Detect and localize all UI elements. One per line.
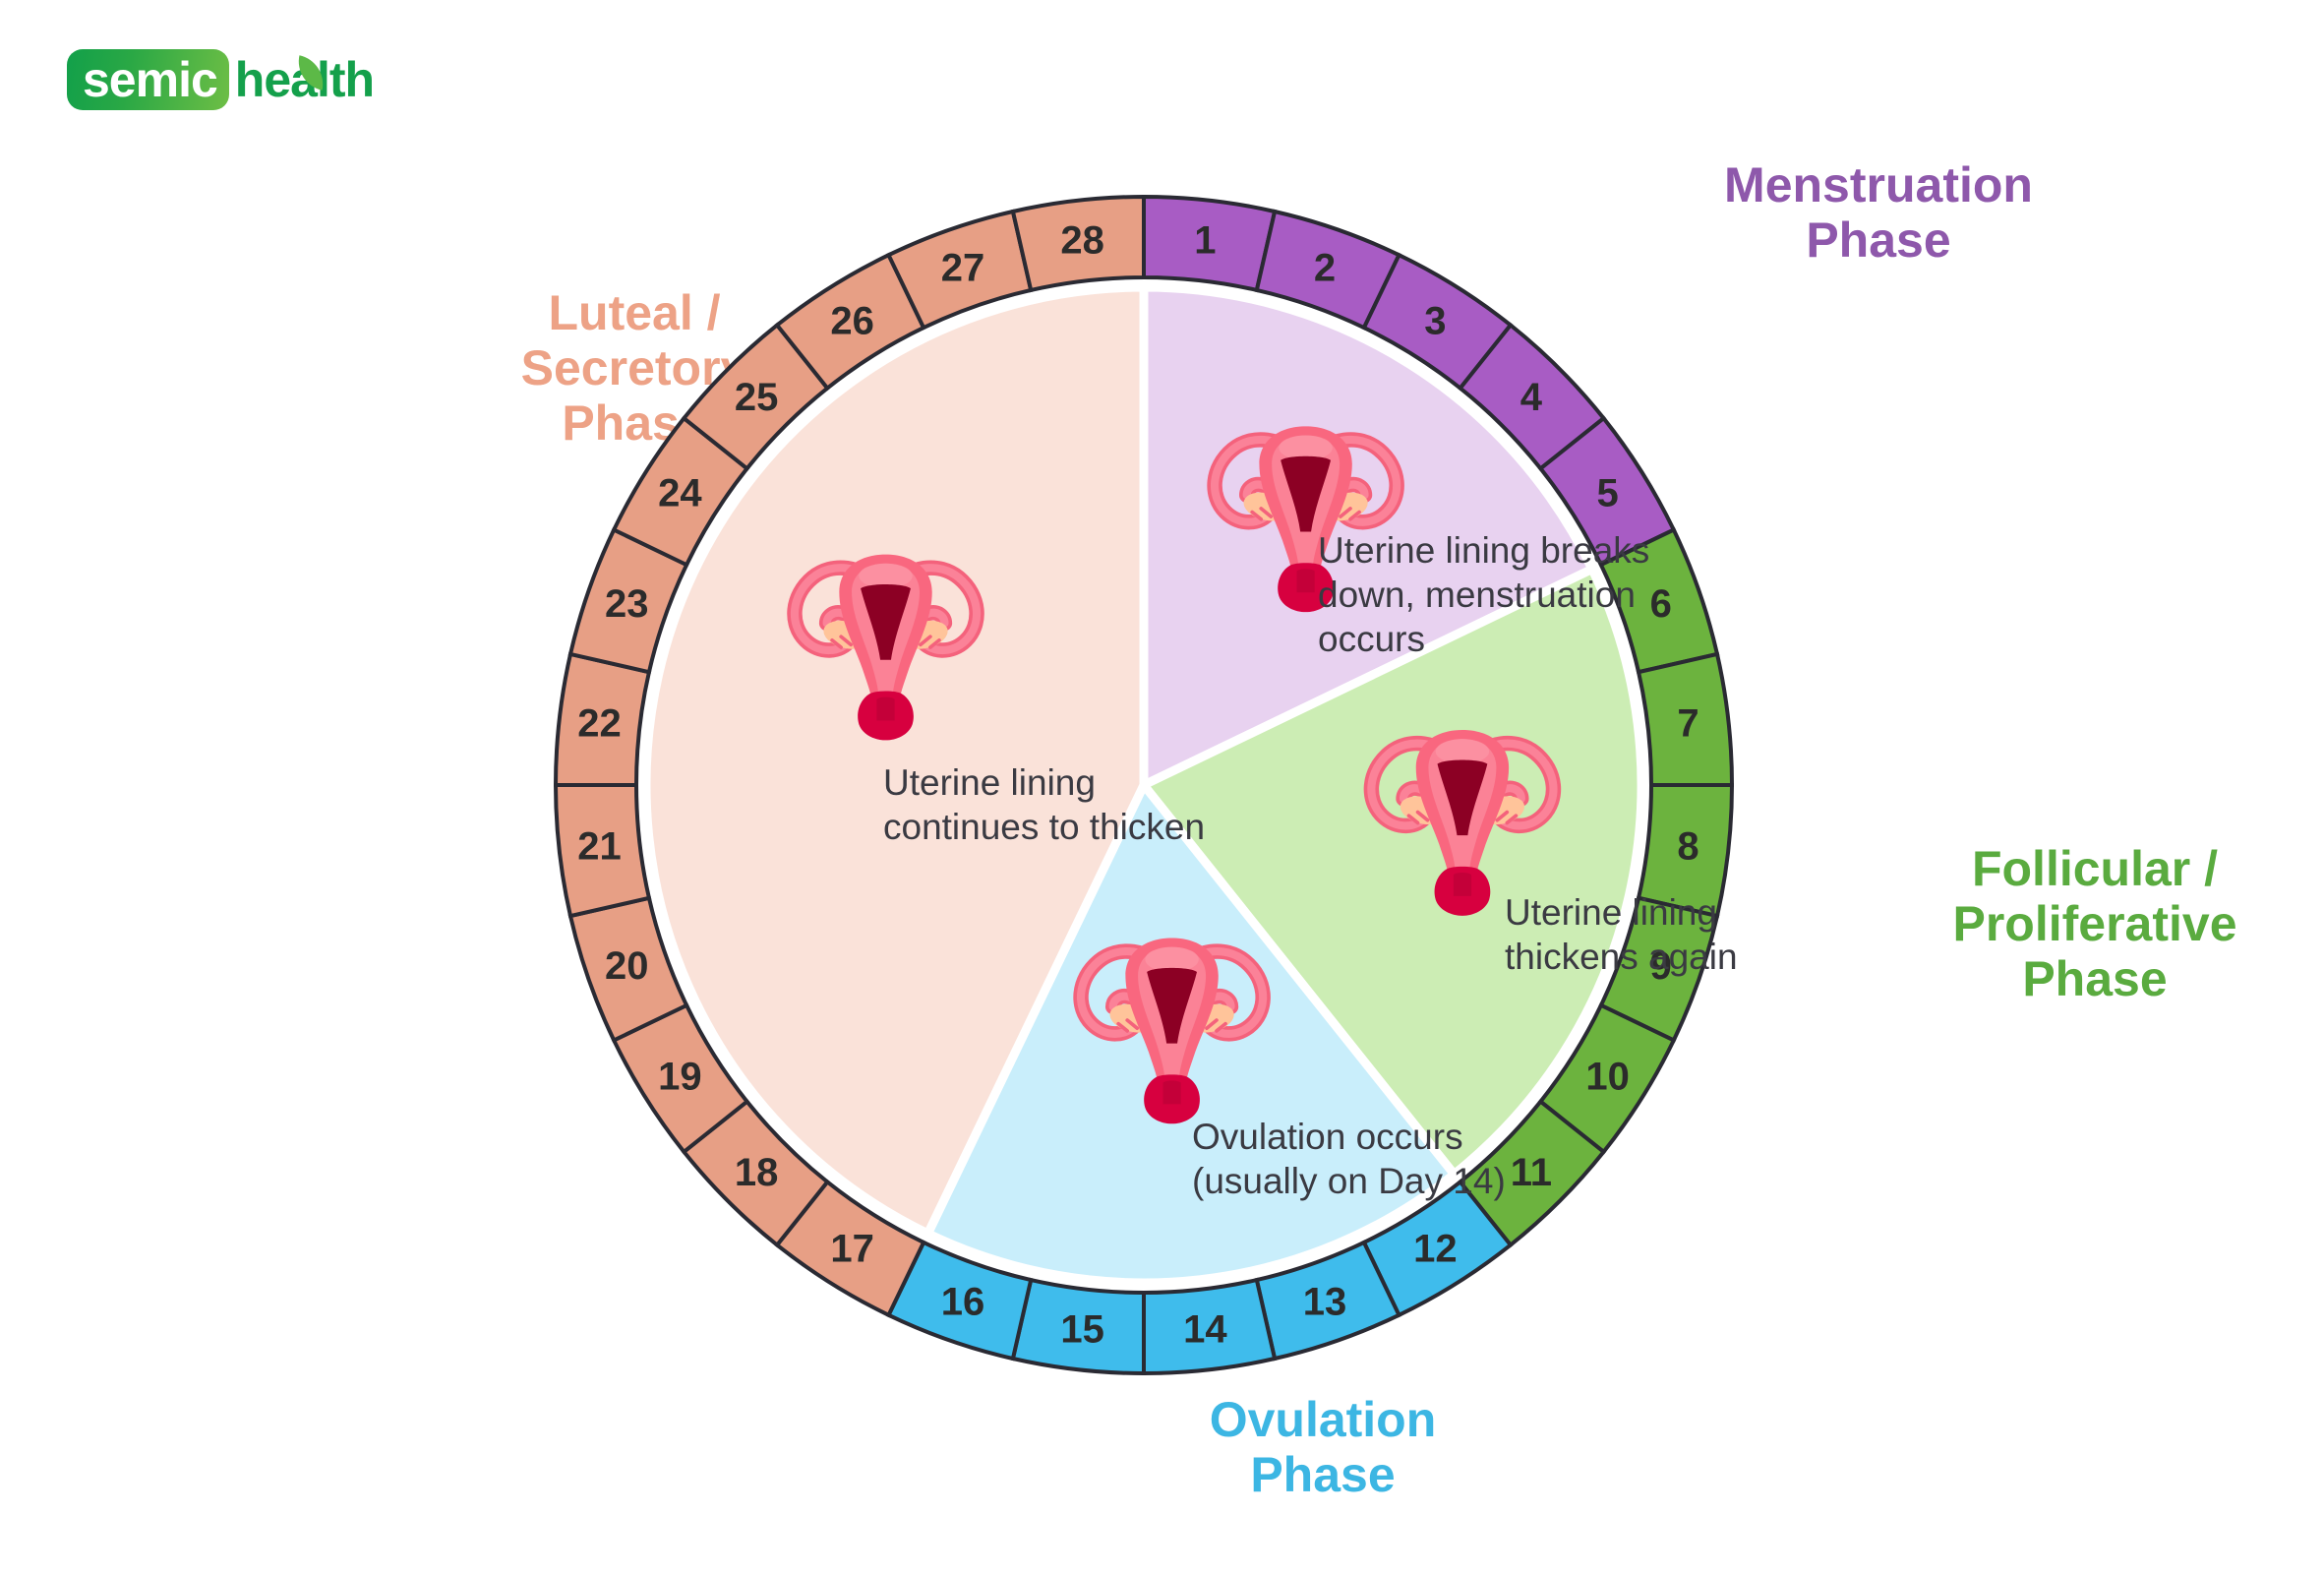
day-number-10: 10 — [1585, 1055, 1630, 1098]
description-ovulation-line-1: Ovulation occurs — [1192, 1117, 1463, 1157]
day-number-11: 11 — [1511, 1151, 1552, 1194]
day-number-14: 14 — [1183, 1307, 1227, 1351]
day-number-8: 8 — [1677, 824, 1698, 868]
day-number-18: 18 — [735, 1151, 779, 1194]
description-luteal-line-2: continues to thicken — [883, 807, 1205, 847]
day-number-25: 25 — [735, 376, 779, 419]
day-number-17: 17 — [830, 1228, 874, 1271]
day-number-6: 6 — [1650, 582, 1672, 626]
day-number-27: 27 — [941, 246, 985, 289]
description-ovulation-line-2: (usually on Day 14) — [1192, 1161, 1506, 1201]
day-number-21: 21 — [577, 824, 622, 868]
description-menstruation-line-1: Uterine lining breaks — [1318, 530, 1649, 571]
day-number-23: 23 — [605, 582, 649, 626]
description-luteal-line-1: Uterine lining — [883, 762, 1096, 803]
day-number-7: 7 — [1677, 702, 1698, 746]
day-number-28: 28 — [1060, 219, 1104, 263]
day-number-3: 3 — [1424, 299, 1446, 342]
day-number-2: 2 — [1314, 246, 1336, 289]
day-number-20: 20 — [605, 944, 649, 988]
description-follicular-line-2: thickens again — [1505, 937, 1738, 977]
description-menstruation-line-3: occurs — [1318, 619, 1425, 659]
day-number-16: 16 — [941, 1281, 985, 1324]
description-menstruation-line-2: down, menstruation — [1318, 575, 1636, 615]
day-number-5: 5 — [1597, 472, 1619, 515]
day-number-24: 24 — [658, 472, 702, 515]
day-number-19: 19 — [658, 1055, 702, 1098]
day-number-4: 4 — [1520, 376, 1543, 419]
day-number-1: 1 — [1194, 219, 1216, 263]
day-number-22: 22 — [577, 702, 622, 746]
day-number-12: 12 — [1413, 1228, 1458, 1271]
day-number-15: 15 — [1060, 1307, 1104, 1351]
menstrual-cycle-wheel: 1234567891011121314151617181920212223242… — [0, 0, 2324, 1575]
description-follicular-line-1: Uterine lining — [1505, 892, 1717, 933]
day-number-26: 26 — [830, 299, 874, 342]
day-number-13: 13 — [1303, 1281, 1347, 1324]
